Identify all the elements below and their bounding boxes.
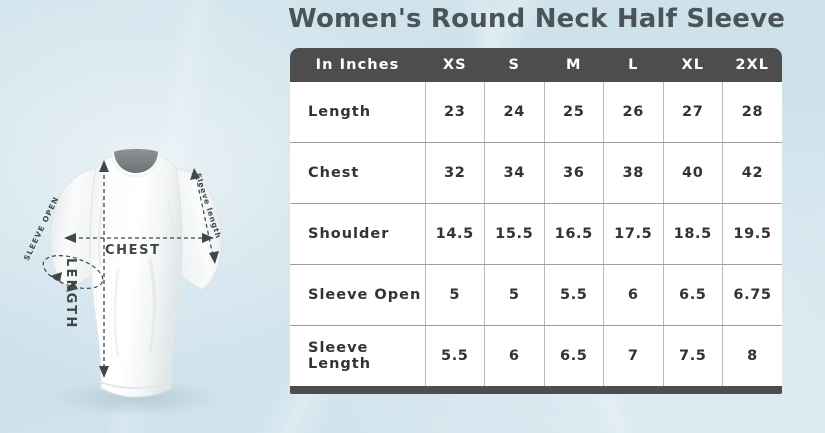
measurement-value: 6.75: [723, 265, 783, 326]
measurement-value: 6.5: [663, 265, 723, 326]
measurement-value: 7.5: [663, 326, 723, 387]
measurement-label: Shoulder: [290, 204, 425, 265]
measurement-value: 18.5: [663, 204, 723, 265]
measurement-value: 27: [663, 82, 723, 143]
table-footer-bar: [290, 386, 782, 394]
measurement-value: 42: [723, 143, 783, 204]
measurement-value: 36: [544, 143, 604, 204]
length-label: LENGTH: [63, 258, 78, 329]
table-row: Shoulder14.515.516.517.518.519.5: [290, 204, 782, 265]
measurement-value: 16.5: [544, 204, 604, 265]
size-chart-page: CHEST LENGTH SLEEVE OPEN Sleeve length W…: [0, 0, 825, 433]
measurement-value: 7: [604, 326, 664, 387]
table-header-row: In InchesXSSMLXL2XL: [290, 48, 782, 82]
table-body: Length232425262728Chest323436384042Shoul…: [290, 82, 782, 386]
table-row: Sleeve Open555.566.56.75: [290, 265, 782, 326]
column-header-size: 2XL: [723, 48, 783, 82]
measurement-value: 14.5: [425, 204, 485, 265]
measurement-value: 6: [485, 326, 545, 387]
measurement-label: Sleeve Open: [290, 265, 425, 326]
measurement-value: 6.5: [544, 326, 604, 387]
measurement-value: 17.5: [604, 204, 664, 265]
column-header-size: XL: [663, 48, 723, 82]
size-chart-table: In InchesXSSMLXL2XL Length232425262728Ch…: [290, 48, 782, 386]
measurement-value: 40: [663, 143, 723, 204]
sleeve-open-arrow-2: [50, 272, 62, 282]
measurement-value: 26: [604, 82, 664, 143]
table-row: Sleeve Length5.566.577.58: [290, 326, 782, 387]
measurement-value: 23: [425, 82, 485, 143]
column-header-size: M: [544, 48, 604, 82]
column-header-size: XS: [425, 48, 485, 82]
measurement-value: 25: [544, 82, 604, 143]
measurement-label: Length: [290, 82, 425, 143]
measurement-value: 32: [425, 143, 485, 204]
measurement-value: 34: [485, 143, 545, 204]
measurement-value: 5.5: [544, 265, 604, 326]
table-row: Length232425262728: [290, 82, 782, 143]
tshirt-illustration: CHEST LENGTH SLEEVE OPEN Sleeve length: [0, 0, 285, 433]
table-row: Chest323436384042: [290, 143, 782, 204]
table-header: In InchesXSSMLXL2XL: [290, 48, 782, 82]
measurement-value: 6: [604, 265, 664, 326]
measurement-label: Sleeve Length: [290, 326, 425, 387]
column-header-size: L: [604, 48, 664, 82]
measurement-value: 15.5: [485, 204, 545, 265]
measurement-value: 38: [604, 143, 664, 204]
column-header-size: S: [485, 48, 545, 82]
measurement-value: 5: [485, 265, 545, 326]
measurement-value: 28: [723, 82, 783, 143]
page-title: Women's Round Neck Half Sleeve: [288, 4, 808, 34]
chest-label: CHEST: [105, 243, 161, 258]
size-chart-table-wrapper: In InchesXSSMLXL2XL Length232425262728Ch…: [290, 48, 782, 394]
measurement-value: 5.5: [425, 326, 485, 387]
measurement-value: 5: [425, 265, 485, 326]
measurement-value: 8: [723, 326, 783, 387]
measurement-value: 24: [485, 82, 545, 143]
column-header-unit: In Inches: [290, 48, 425, 82]
measurement-value: 19.5: [723, 204, 783, 265]
measurement-label: Chest: [290, 143, 425, 204]
